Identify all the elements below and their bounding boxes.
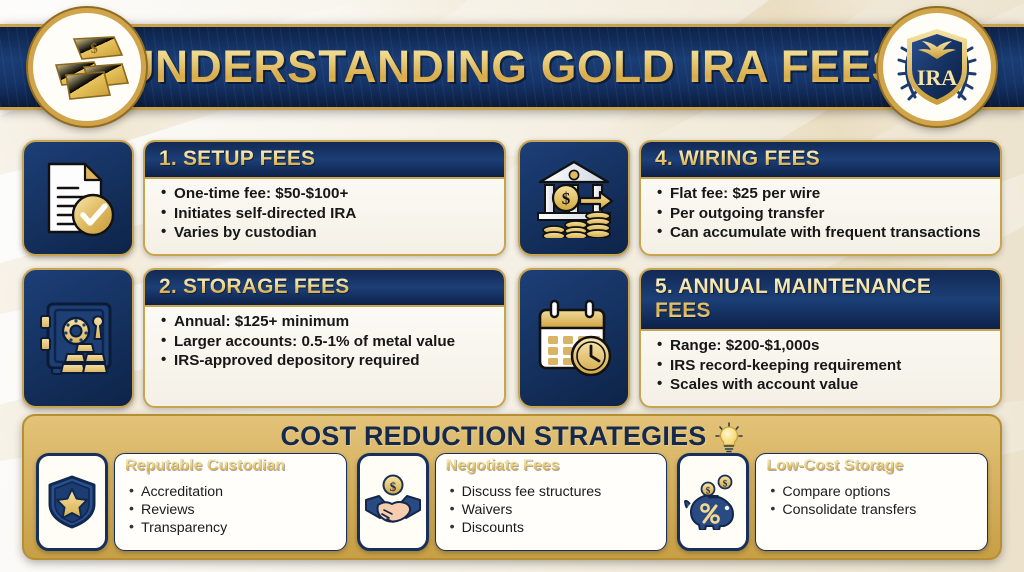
svg-text:IRA: IRA: [917, 65, 957, 90]
strategy-title-reputable-custodian: Reputable Custodian: [115, 454, 346, 479]
handshake-dollar-icon: $: [357, 453, 429, 551]
fee-body-storage: 2. STORAGE FEES Annual: $125+ minimum La…: [143, 268, 506, 408]
page-title: UNDERSTANDING GOLD IRA FEES: [0, 24, 1024, 110]
svg-text:$: $: [389, 479, 396, 494]
fee-bullets-storage: Annual: $125+ minimum Larger accounts: 0…: [145, 307, 504, 406]
fee-title-setup: 1. SETUP FEES: [145, 142, 504, 179]
list-item: Initiates self-directed IRA: [161, 205, 492, 224]
strategy-title-negotiate-fees: Negotiate Fees: [436, 454, 667, 479]
strategies-title: COST REDUCTION STRATEGIES: [280, 421, 706, 452]
list-item: IRS-approved depository required: [161, 352, 492, 371]
list-item: Larger accounts: 0.5-1% of metal value: [161, 333, 492, 352]
list-item: Discounts: [450, 519, 659, 537]
fee-card-annual-maintenance[interactable]: 5. ANNUAL MAINTENANCE FEES Range: $200-$…: [518, 268, 1002, 408]
bank-wire-transfer-icon: $: [518, 140, 630, 256]
fee-body-setup: 1. SETUP FEES One-time fee: $50-$100+ In…: [143, 140, 506, 256]
strategy-body-low-cost-storage: Low-Cost Storage Compare options Consoli…: [755, 453, 988, 551]
list-item: Scales with account value: [657, 376, 988, 395]
cost-reduction-strategies-panel: COST REDUCTION STRATEGIES: [22, 414, 1002, 560]
fee-bullets-annual-maintenance: Range: $200-$1,000s IRS record-keeping r…: [641, 331, 1000, 406]
list-item: Discuss fee structures: [450, 483, 659, 501]
list-item: IRS record-keeping requirement: [657, 357, 988, 376]
list-item: Waivers: [450, 501, 659, 519]
strategy-bullets-negotiate-fees: Discuss fee structures Waivers Discounts: [436, 479, 667, 542]
fee-body-wiring: 4. WIRING FEES Flat fee: $25 per wire Pe…: [639, 140, 1002, 256]
strategies-grid: Reputable Custodian Accreditation Review…: [36, 453, 988, 551]
list-item: Can accumulate with frequent transaction…: [657, 224, 988, 243]
piggy-bank-percent-icon: $ $: [677, 453, 749, 551]
gold-bars-icon: $: [28, 8, 146, 126]
strategies-title-row: COST REDUCTION STRATEGIES: [36, 420, 988, 453]
list-item: Annual: $125+ minimum: [161, 313, 492, 332]
shield-star-icon: [36, 453, 108, 551]
lightbulb-icon: [714, 421, 744, 453]
fee-title-annual-maintenance: 5. ANNUAL MAINTENANCE FEES: [641, 270, 1000, 331]
fee-card-storage[interactable]: 2. STORAGE FEES Annual: $125+ minimum La…: [22, 268, 506, 408]
list-item: One-time fee: $50-$100+: [161, 185, 492, 204]
safe-vault-gold-bars-icon: [22, 268, 134, 408]
list-item: Reviews: [129, 501, 338, 519]
strategy-body-reputable-custodian: Reputable Custodian Accreditation Review…: [114, 453, 347, 551]
fee-body-annual-maintenance: 5. ANNUAL MAINTENANCE FEES Range: $200-$…: [639, 268, 1002, 408]
svg-text:$: $: [706, 486, 711, 496]
fee-title-wiring: 4. WIRING FEES: [641, 142, 1000, 179]
list-item: Consolidate transfers: [770, 501, 979, 519]
document-check-icon: [22, 140, 134, 256]
strategy-card-negotiate-fees[interactable]: $ Negotiate Fees Discuss fee structures …: [357, 453, 668, 551]
list-item: Transparency: [129, 519, 338, 537]
fee-card-wiring[interactable]: $ 4. WIRING FEES Flat fee: $25 per wire …: [518, 140, 1002, 256]
list-item: Range: $200-$1,000s: [657, 337, 988, 356]
ira-shield-crest-icon: IRA: [878, 8, 996, 126]
list-item: Accreditation: [129, 483, 338, 501]
fee-title-storage: 2. STORAGE FEES: [145, 270, 504, 307]
list-item: Flat fee: $25 per wire: [657, 185, 988, 204]
fee-bullets-wiring: Flat fee: $25 per wire Per outgoing tran…: [641, 179, 1000, 254]
svg-text:$: $: [90, 41, 98, 57]
fee-bullets-setup: One-time fee: $50-$100+ Initiates self-d…: [145, 179, 504, 254]
header-banner: UNDERSTANDING GOLD IRA FEES $: [0, 0, 1024, 133]
strategy-card-reputable-custodian[interactable]: Reputable Custodian Accreditation Review…: [36, 453, 347, 551]
calendar-clock-icon: [518, 268, 630, 408]
svg-text:$: $: [562, 189, 571, 208]
strategy-bullets-low-cost-storage: Compare options Consolidate transfers: [756, 479, 987, 523]
strategy-bullets-reputable-custodian: Accreditation Reviews Transparency: [115, 479, 346, 542]
list-item: Varies by custodian: [161, 224, 492, 243]
strategy-card-low-cost-storage[interactable]: $ $ Low-Cost Storage: [677, 453, 988, 551]
list-item: Per outgoing transfer: [657, 205, 988, 224]
fee-card-setup[interactable]: 1. SETUP FEES One-time fee: $50-$100+ In…: [22, 140, 506, 256]
list-item: Compare options: [770, 483, 979, 501]
svg-text:$: $: [723, 479, 728, 489]
strategy-body-negotiate-fees: Negotiate Fees Discuss fee structures Wa…: [435, 453, 668, 551]
fee-cards-grid: 1. SETUP FEES One-time fee: $50-$100+ In…: [0, 140, 1024, 408]
strategy-title-low-cost-storage: Low-Cost Storage: [756, 454, 987, 479]
